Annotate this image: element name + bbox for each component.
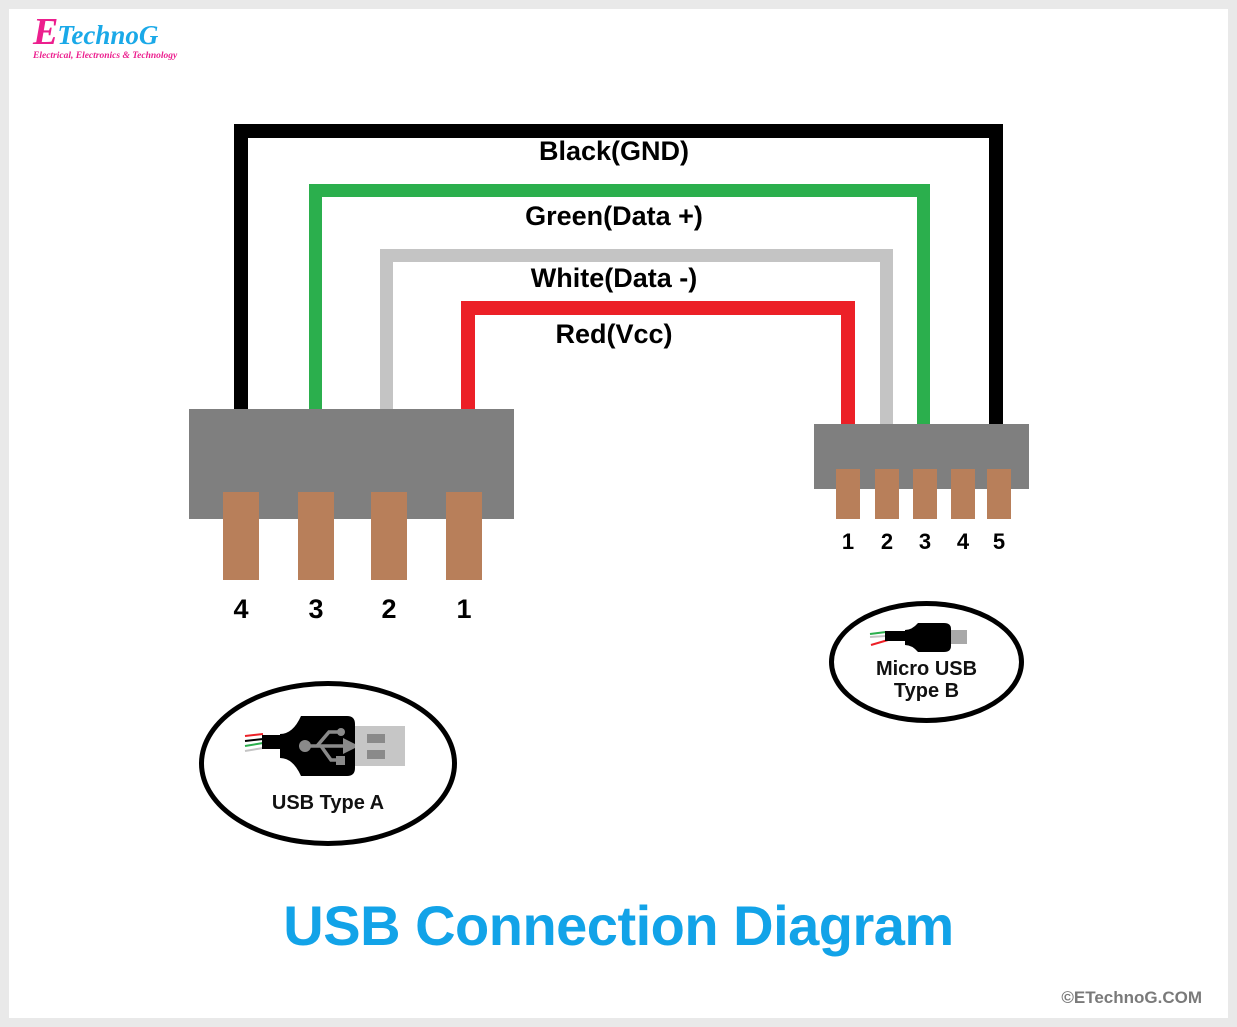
type-a-pin-4 (223, 492, 259, 580)
type-a-pin-label-2: 2 (374, 594, 404, 625)
type-a-pin-1 (446, 492, 482, 580)
type-a-pin-label-1: 1 (449, 594, 479, 625)
type-a-pin-3 (298, 492, 334, 580)
type-a-pin-2 (371, 492, 407, 580)
micro-b-pin-5 (987, 469, 1011, 519)
micro-b-pin-4 (951, 469, 975, 519)
logo-initial: E (33, 11, 57, 53)
micro-usb-badge: Micro USB Type B (829, 601, 1024, 723)
usb-type-a-badge-caption: USB Type A (272, 792, 384, 814)
micro-b-pin-2 (875, 469, 899, 519)
usb-type-a-connector-icon (243, 708, 413, 784)
micro-b-pin-label-1: 1 (836, 529, 860, 555)
micro-usb-connector-icon (868, 616, 986, 658)
type-a-pin-label-3: 3 (301, 594, 331, 625)
wire-label-green: Green(Data +) (449, 201, 779, 232)
wire-label-white: White(Data -) (449, 263, 779, 294)
wire-white-horizontal (380, 249, 893, 262)
copyright-footer: ©ETechnoG.COM (1061, 988, 1202, 1008)
diagram-canvas: ETechnoG Electrical, Electronics & Techn… (9, 9, 1228, 1018)
micro-b-pin-label-3: 3 (913, 529, 937, 555)
page-title: USB Connection Diagram (9, 893, 1228, 958)
type-a-pin-label-4: 4 (226, 594, 256, 625)
usb-type-a-badge: USB Type A (199, 681, 457, 846)
etechnog-logo: ETechnoG Electrical, Electronics & Techn… (33, 17, 193, 75)
wire-label-black: Black(GND) (449, 136, 779, 167)
micro-b-pin-3 (913, 469, 937, 519)
diagram-page: ETechnoG Electrical, Electronics & Techn… (0, 0, 1237, 1027)
logo-word: TechnoG (57, 20, 158, 50)
micro-b-pin-1 (836, 469, 860, 519)
micro-b-pin-label-4: 4 (951, 529, 975, 555)
logo-wordmark: ETechnoG (33, 17, 193, 50)
wire-label-red: Red(Vcc) (449, 319, 779, 350)
micro-usb-badge-caption: Micro USB Type B (876, 658, 977, 703)
logo-tagline: Electrical, Electronics & Technology (33, 51, 193, 61)
micro-b-pin-label-2: 2 (875, 529, 899, 555)
wire-red-horizontal (461, 301, 855, 315)
wire-green-horizontal (309, 184, 930, 197)
micro-b-pin-label-5: 5 (987, 529, 1011, 555)
